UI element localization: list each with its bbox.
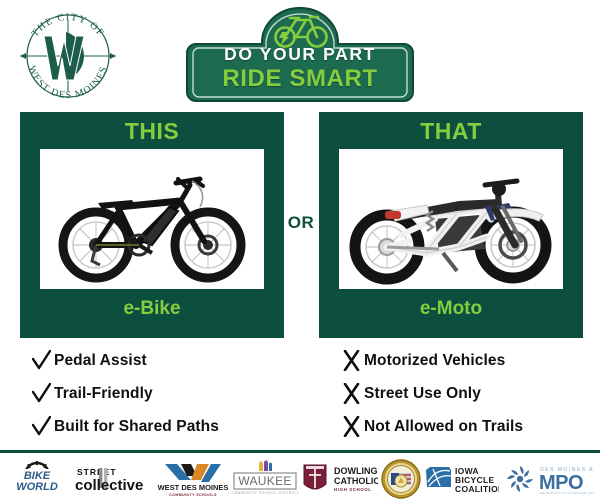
checkmark-icon xyxy=(28,383,54,404)
header: THE CITY OF WEST DES MOINES xyxy=(0,0,600,110)
e-moto-photo xyxy=(339,149,563,289)
feature-lists: Pedal Assist Trail-Friendly Built for Sh… xyxy=(0,344,600,448)
panel-e-bike: THIS xyxy=(20,112,284,338)
checkmark-icon xyxy=(28,350,54,371)
list-item: Street Use Only xyxy=(338,377,600,410)
mpo-line-3: METROPOLITAN PLANNING ORGANIZATION xyxy=(540,491,594,495)
banner-line-1: DO YOUR PART xyxy=(224,46,376,64)
ride-smart-banner: DO YOUR PART RIDE SMART xyxy=(186,4,414,102)
list-item-label: Not Allowed on Trails xyxy=(364,418,523,436)
des-moines-area-mpo-logo: DES MOINES AREA MPO METROPOLITAN PLANNIN… xyxy=(502,459,594,499)
list-item-label: Street Use Only xyxy=(364,385,481,403)
pinwheel-icon xyxy=(507,466,533,492)
bike-world-line-2: WORLD xyxy=(16,481,58,493)
city-seal-icon: THE CITY OF WEST DES MOINES xyxy=(14,6,122,102)
list-item: Trail-Friendly xyxy=(28,377,303,410)
ride-smart-infographic: THE CITY OF WEST DES MOINES xyxy=(0,0,600,503)
feature-list-e-moto: Motorized Vehicles Street Use Only xyxy=(338,344,600,443)
west-des-moines-schools-logo: WEST DES MOINES COMMUNITY SCHOOLS xyxy=(157,459,229,499)
list-item-label: Motorized Vehicles xyxy=(364,352,505,370)
footer-divider xyxy=(0,450,600,453)
list-item: Built for Shared Paths xyxy=(28,410,303,443)
bike-world-logo: BIKE WORLD xyxy=(6,459,68,499)
dowling-line-3: HIGH SCHOOL xyxy=(334,487,372,492)
wdm-schools-line-1: WEST DES MOINES xyxy=(158,483,229,492)
comparison-panels: THIS xyxy=(0,112,600,340)
street-collective-line-2: collective xyxy=(75,477,143,494)
feature-list-e-bike: Pedal Assist Trail-Friendly Built for Sh… xyxy=(28,344,303,443)
x-mark-icon xyxy=(338,383,364,404)
list-item-label: Built for Shared Paths xyxy=(54,418,219,436)
waukee-schools-logo: WAUKEE COMMUNITY SCHOOL DISTRICT xyxy=(232,459,298,499)
iowa-bicycle-coalition-logo: IOWA BICYCLE COALITION xyxy=(423,459,499,499)
waukee-line-1: WAUKEE xyxy=(238,474,291,488)
waukee-line-2: COMMUNITY SCHOOL DISTRICT xyxy=(232,491,298,495)
list-item: Not Allowed on Trails xyxy=(338,410,600,443)
checkmark-icon xyxy=(28,416,54,437)
list-item-label: Trail-Friendly xyxy=(54,385,153,403)
panel-left-caption: e-Bike xyxy=(123,298,180,321)
list-item: Motorized Vehicles xyxy=(338,344,600,377)
e-bike-photo xyxy=(40,149,264,289)
street-collective-line-1: STREET xyxy=(77,467,117,477)
panel-right-title: THAT xyxy=(420,117,482,146)
dowling-catholic-logo: DOWLING CATHOLIC HIGH SCHOOL xyxy=(300,459,378,499)
sponsor-logo-strip: BIKE WORLD STREET collective WEST DES MO… xyxy=(0,455,600,503)
list-item-label: Pedal Assist xyxy=(54,352,147,370)
street-collective-logo: STREET collective xyxy=(71,459,155,499)
panel-left-title: THIS xyxy=(125,117,179,146)
dowling-line-1: DOWLING xyxy=(334,466,378,476)
panel-right-caption: e-Moto xyxy=(420,298,482,321)
wdm-schools-line-2: COMMUNITY SCHOOLS xyxy=(169,493,217,497)
dowling-line-2: CATHOLIC xyxy=(334,476,378,486)
banner-line-2: RIDE SMART xyxy=(222,65,377,93)
city-seal-gold-logo xyxy=(381,459,421,499)
panel-e-moto: THAT xyxy=(319,112,583,338)
or-divider-label: OR xyxy=(283,213,319,233)
x-mark-icon xyxy=(338,350,364,371)
iowa-bicycle-line-3: COALITION xyxy=(455,484,499,494)
list-item: Pedal Assist xyxy=(28,344,303,377)
x-mark-icon xyxy=(338,416,364,437)
